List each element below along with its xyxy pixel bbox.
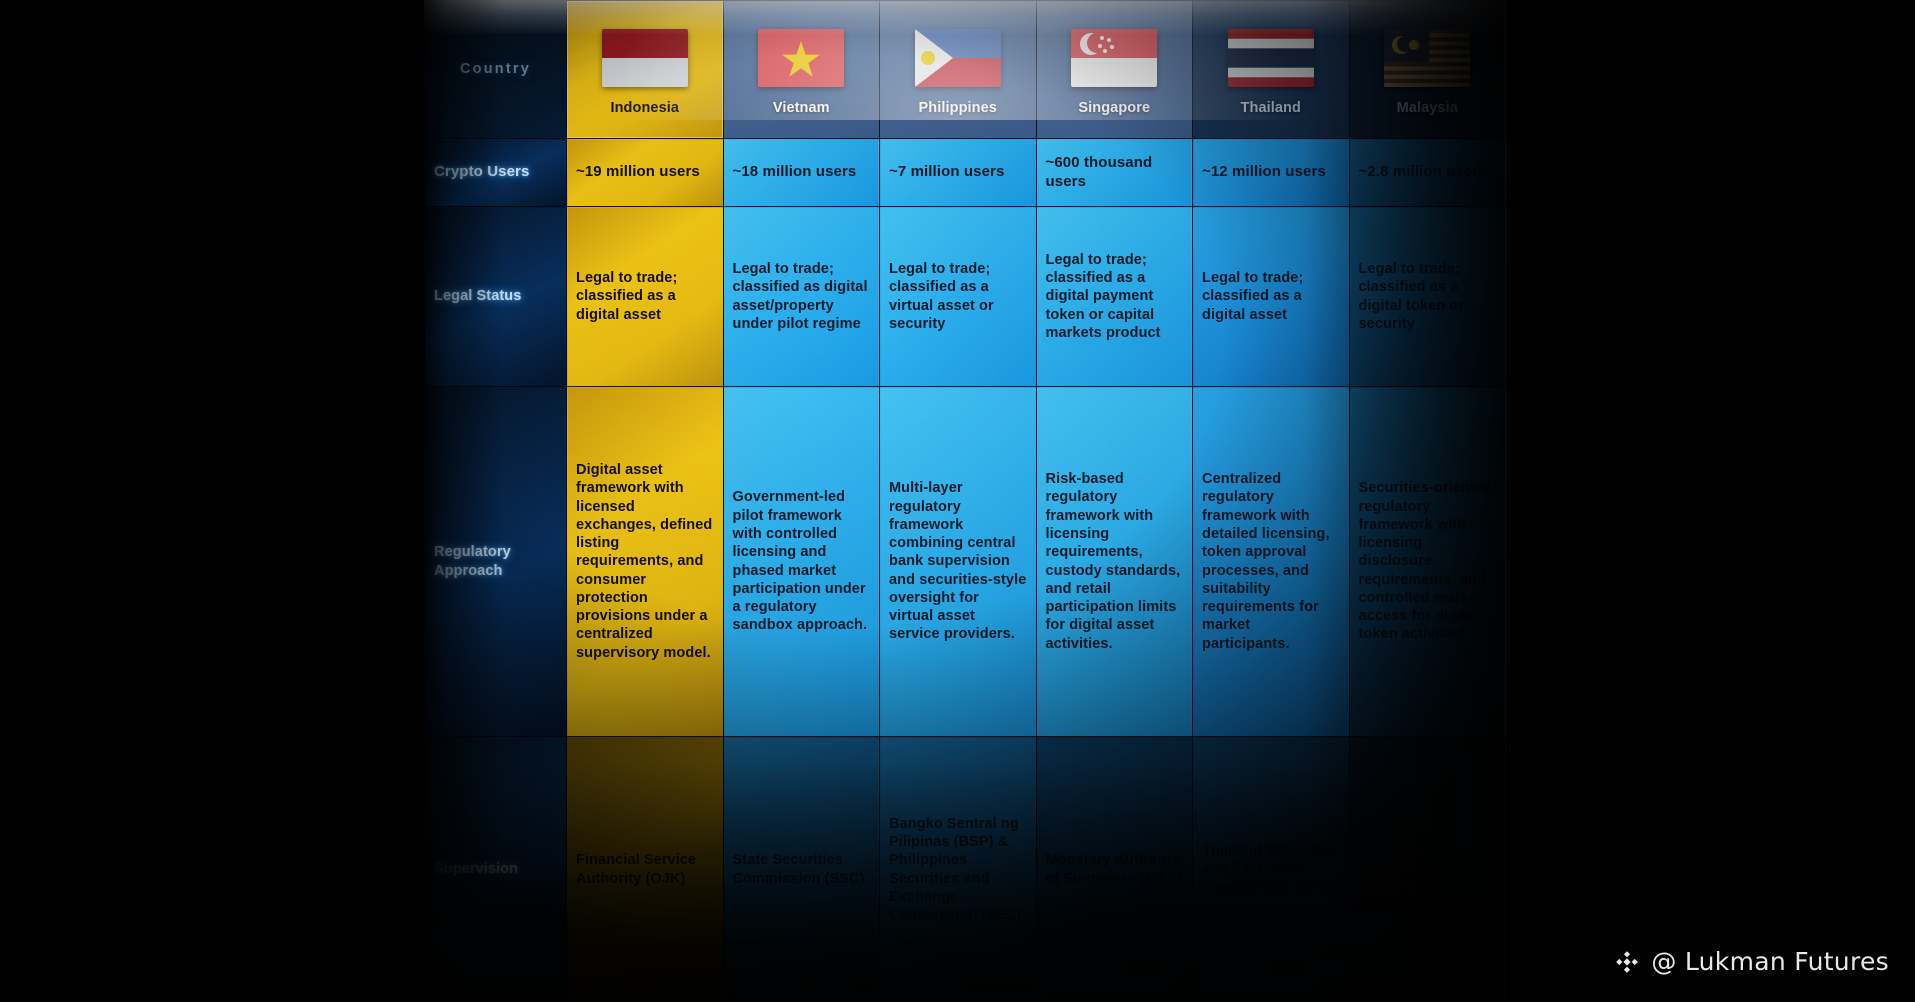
country-name: Indonesia bbox=[576, 99, 714, 117]
singapore-flag-icon bbox=[1046, 21, 1184, 95]
cell-supervision-malaysia: Securities Commission Malaysia (SC) bbox=[1349, 737, 1506, 1002]
watermark: @ Lukman Futures bbox=[1613, 947, 1889, 976]
table-row: Legal Status Legal to trade; classified … bbox=[425, 207, 1506, 387]
country-header-vietnam[interactable]: Vietnam bbox=[723, 1, 880, 139]
cell-regulatory-approach-singapore: Risk-based regulatory framework with lic… bbox=[1036, 387, 1193, 737]
country-header-philippines[interactable]: Philippines bbox=[880, 1, 1037, 139]
cell-supervision-indonesia: Financial Service Authority (OJK) bbox=[567, 737, 724, 1002]
cell-supervision-vietnam: State Securities Commission (SSC) bbox=[723, 737, 880, 1002]
cell-crypto-users-malaysia: ~2.8 million users bbox=[1349, 139, 1506, 207]
cell-regulatory-approach-philippines: Multi-layer regulatory framework combini… bbox=[880, 387, 1037, 737]
cell-crypto-users-vietnam: ~18 million users bbox=[723, 139, 880, 207]
cell-supervision-singapore: Monetary Authority of Singapore (MAS) bbox=[1036, 737, 1193, 1002]
thailand-flag-icon bbox=[1202, 21, 1340, 95]
country-header-thailand[interactable]: Thailand bbox=[1193, 1, 1350, 139]
cell-regulatory-approach-malaysia: Securities-oriented regulatory framework… bbox=[1349, 387, 1506, 737]
cell-crypto-users-philippines: ~7 million users bbox=[880, 139, 1037, 207]
binance-diamond-logo-icon bbox=[1613, 948, 1641, 976]
cell-supervision-philippines: Bangko Sentral ng Pilipinas (BSP) & Phil… bbox=[880, 737, 1037, 1002]
cell-regulatory-approach-vietnam: Government-led pilot framework with cont… bbox=[723, 387, 880, 737]
country-header-indonesia[interactable]: Indonesia bbox=[567, 1, 724, 139]
table-row: Supervision Financial Service Authority … bbox=[425, 737, 1506, 1002]
row-label-supervision: Supervision bbox=[425, 737, 567, 1002]
country-name: Philippines bbox=[889, 99, 1027, 117]
cell-crypto-users-indonesia: ~19 million users bbox=[567, 139, 724, 207]
screenshot-root: Country Indonesia bbox=[0, 0, 1915, 1002]
cell-legal-status-thailand: Legal to trade; classified as a digital … bbox=[1193, 207, 1350, 387]
country-header-malaysia[interactable]: Malaysia bbox=[1349, 1, 1506, 139]
cell-legal-status-singapore: Legal to trade; classified as a digital … bbox=[1036, 207, 1193, 387]
cell-crypto-users-singapore: ~600 thousand users bbox=[1036, 139, 1193, 207]
cell-legal-status-malaysia: Legal to trade; classified as a digital … bbox=[1349, 207, 1506, 387]
row-label-legal-status: Legal Status bbox=[425, 207, 567, 387]
country-name: Vietnam bbox=[733, 99, 871, 117]
cell-regulatory-approach-indonesia: Digital asset framework with licensed ex… bbox=[567, 387, 724, 737]
country-name: Thailand bbox=[1202, 99, 1340, 117]
row-label-crypto-users: Crypto Users bbox=[425, 139, 567, 207]
comparison-table-screen: Country Indonesia bbox=[424, 0, 1505, 1002]
country-header-singapore[interactable]: Singapore bbox=[1036, 1, 1193, 139]
table-header-row: Country Indonesia bbox=[425, 1, 1506, 139]
table-row: Crypto Users ~19 million users ~18 milli… bbox=[425, 139, 1506, 207]
watermark-handle: @ Lukman Futures bbox=[1651, 947, 1889, 976]
cell-legal-status-philippines: Legal to trade; classified as a virtual … bbox=[880, 207, 1037, 387]
malaysia-flag-icon bbox=[1359, 21, 1497, 95]
cell-supervision-thailand: Thailand Securities and Exchange Commiss… bbox=[1193, 737, 1350, 1002]
philippines-flag-icon bbox=[889, 21, 1027, 95]
country-crypto-comparison-table: Country Indonesia bbox=[424, 0, 1506, 1002]
country-name: Singapore bbox=[1046, 99, 1184, 117]
country-name: Malaysia bbox=[1359, 99, 1497, 117]
table-row: Regulatory Approach Digital asset framew… bbox=[425, 387, 1506, 737]
column-header-country: Country bbox=[425, 1, 567, 139]
row-label-regulatory-approach: Regulatory Approach bbox=[425, 387, 567, 737]
cell-crypto-users-thailand: ~12 million users bbox=[1193, 139, 1350, 207]
cell-regulatory-approach-thailand: Centralized regulatory framework with de… bbox=[1193, 387, 1350, 737]
cell-legal-status-indonesia: Legal to trade; classified as a digital … bbox=[567, 207, 724, 387]
cell-legal-status-vietnam: Legal to trade; classified as digital as… bbox=[723, 207, 880, 387]
indonesia-flag-icon bbox=[576, 21, 714, 95]
vietnam-flag-icon bbox=[733, 21, 871, 95]
